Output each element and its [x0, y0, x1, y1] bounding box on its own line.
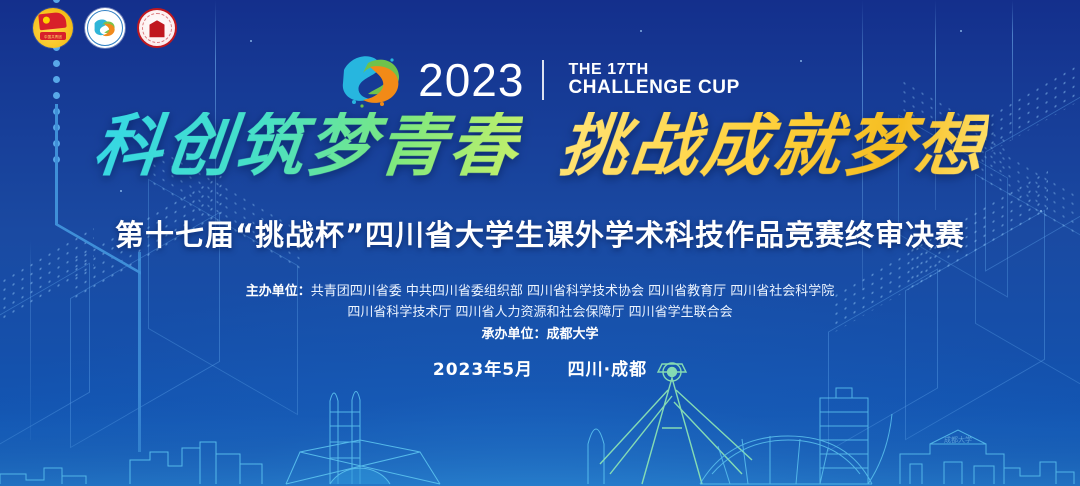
communist-youth-league-emblem	[33, 8, 73, 48]
sponsor-line-2: 四川省科学技术厅 四川省人力资源和社会保障厅 四川省学生联合会	[0, 302, 1080, 323]
organizer-block: 主办单位：共青团四川省委 中共四川省委组织部 四川省科学技术协会 四川省教育厅 …	[0, 281, 1080, 345]
english-title: THE 17TH CHALLENGE CUP	[568, 62, 739, 98]
chengdu-university-seal	[137, 8, 177, 48]
slogan-part-2: 挑战成就梦想	[556, 112, 989, 180]
sponsor-line-1-value: 共青团四川省委 中共四川省委组织部 四川省科学技术协会 四川省教育厅 四川省社会…	[311, 284, 835, 299]
date-city-line: 2023年5月 四川·成都	[0, 355, 1080, 380]
lockup-divider	[542, 60, 544, 100]
skyline-landmark-label: 成都大学	[944, 435, 972, 444]
event-poster: 2023 THE 17TH CHALLENGE CUP 科创筑梦青春 挑战成就梦…	[0, 0, 1080, 486]
english-title-line2: CHALLENGE CUP	[568, 78, 739, 98]
challenge-cup-round-logo	[85, 8, 125, 48]
slogan: 科创筑梦青春 挑战成就梦想	[0, 112, 1080, 180]
sponsor-line-1: 主办单位：共青团四川省委 中共四川省委组织部 四川省科学技术协会 四川省教育厅 …	[0, 281, 1080, 302]
english-title-line1: THE 17TH	[568, 62, 739, 78]
year-label: 2023	[418, 57, 524, 103]
host-line: 承办单位：成都大学	[0, 324, 1080, 345]
page-title: 第十七届“挑战杯”四川省大学生课外学术科技作品竞赛终审决赛	[0, 212, 1080, 254]
event-date: 2023年5月	[433, 360, 533, 380]
event-city: 四川·成都	[568, 360, 647, 380]
emblem-row	[33, 8, 177, 48]
slogan-part-1: 科创筑梦青春	[90, 112, 523, 180]
challenge-cup-lockup: 2023 THE 17TH CHALLENGE CUP	[0, 50, 1080, 110]
host-label: 承办单位：	[481, 327, 546, 342]
challenge-cup-swoosh-logo	[340, 50, 404, 110]
sponsor-label: 主办单位：	[246, 284, 311, 299]
host-value: 成都大学	[547, 327, 599, 342]
